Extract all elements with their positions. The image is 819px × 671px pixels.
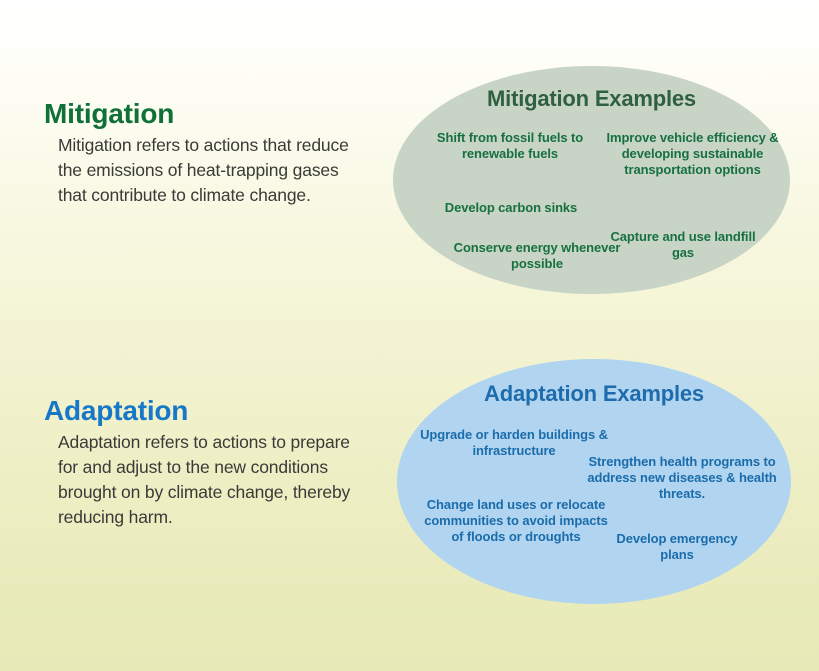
infographic-canvas: Mitigation Mitigation refers to actions … <box>0 0 819 671</box>
adaptation-example-item: Develop emergency plans <box>607 531 747 563</box>
mitigation-section: Mitigation Mitigation refers to actions … <box>0 98 390 208</box>
mitigation-example-item: Develop carbon sinks <box>426 200 596 216</box>
mitigation-examples-title: Mitigation Examples <box>393 86 790 112</box>
mitigation-example-item: Improve vehicle efficiency & developing … <box>600 130 785 178</box>
adaptation-heading: Adaptation <box>44 395 390 426</box>
adaptation-example-item: Strengthen health programs to address ne… <box>587 454 777 502</box>
mitigation-example-item: Shift from fossil fuels to renewable fue… <box>425 130 595 162</box>
mitigation-example-item: Conserve energy whenever possible <box>453 240 621 272</box>
mitigation-description: Mitigation refers to actions that reduce… <box>58 133 358 208</box>
adaptation-example-item: Upgrade or harden buildings & infrastruc… <box>419 427 609 459</box>
mitigation-heading: Mitigation <box>44 98 390 129</box>
adaptation-section: Adaptation Adaptation refers to actions … <box>0 395 390 530</box>
adaptation-example-item: Change land uses or relocate communities… <box>421 497 611 545</box>
adaptation-description: Adaptation refers to actions to prepare … <box>58 430 358 529</box>
adaptation-examples-title: Adaptation Examples <box>397 381 791 407</box>
mitigation-examples-ellipse: Mitigation Examples Shift from fossil fu… <box>393 66 790 294</box>
mitigation-example-item: Capture and use landfill gas <box>603 229 763 261</box>
adaptation-examples-ellipse: Adaptation Examples Upgrade or harden bu… <box>397 359 791 604</box>
